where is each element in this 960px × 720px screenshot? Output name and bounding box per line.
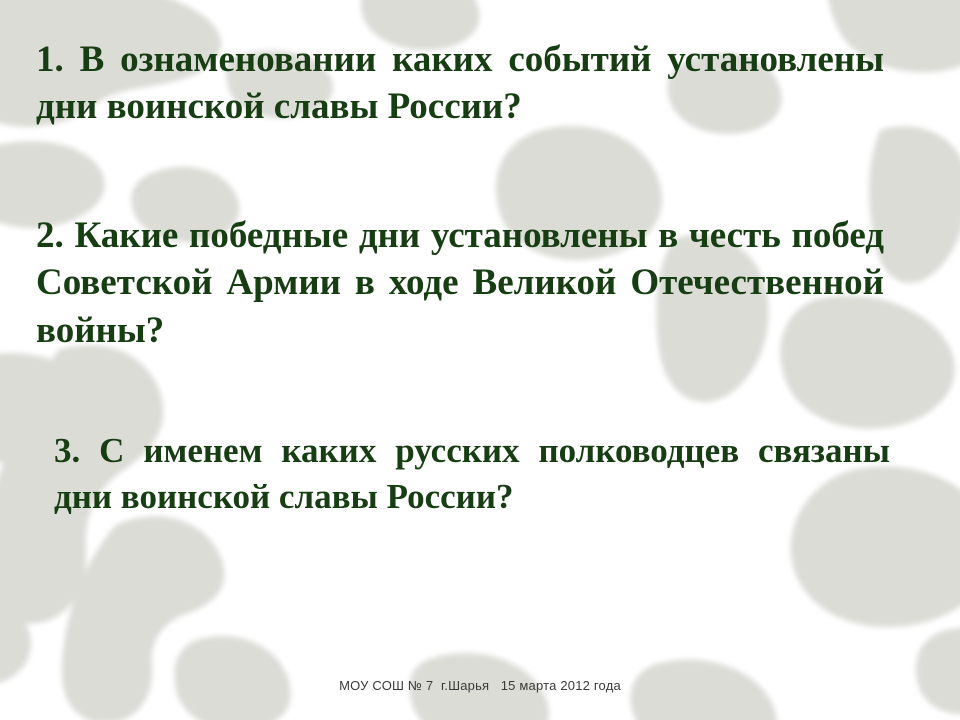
question-2: 2. Какие победные дни установлены в чест… — [36, 212, 884, 354]
slide-content: 1. В ознаменовании каких событий установ… — [0, 0, 960, 720]
question-1: 1. В ознаменовании каких событий установ… — [36, 36, 884, 131]
question-3: 3. С именем каких русских полководцев св… — [54, 428, 890, 519]
presentation-slide: 1. В ознаменовании каких событий установ… — [0, 0, 960, 720]
slide-footer: МОУ СОШ № 7 г.Шарья 15 марта 2012 года — [0, 678, 960, 693]
